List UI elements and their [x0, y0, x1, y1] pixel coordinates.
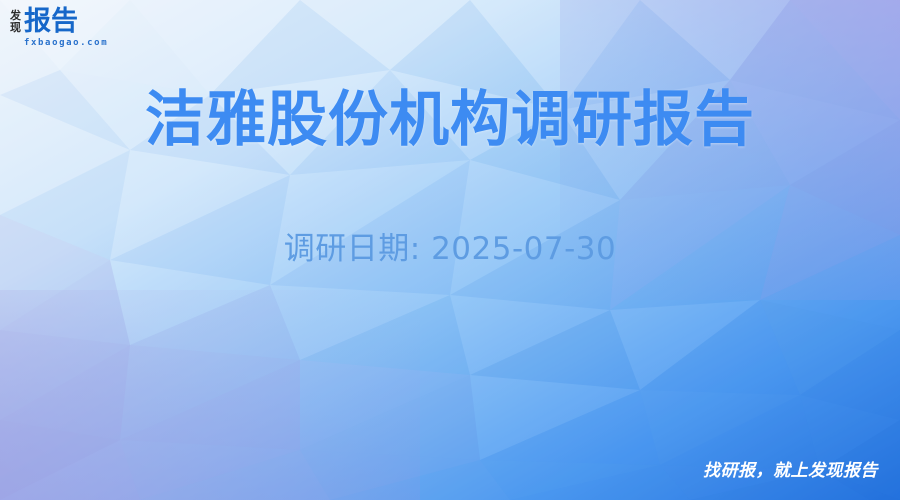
logo-mark: 发 现 [10, 8, 21, 34]
site-logo[interactable]: 发 现 报告 fxbaogao.com [10, 8, 108, 49]
subtitle-block: 调研日期: 2025-07-30 [0, 228, 900, 270]
survey-date: 调研日期: 2025-07-30 [0, 228, 900, 270]
logo-mark-bottom: 现 [10, 22, 21, 34]
report-cover: 发 现 报告 fxbaogao.com 洁雅股份机构调研报告 调研日期: 202… [0, 0, 900, 500]
title-block: 洁雅股份机构调研报告 [0, 82, 900, 158]
brand-tagline: 找研报，就上发现报告 [703, 460, 878, 482]
logo-domain: fxbaogao.com [24, 38, 108, 49]
logo-text-group: 报告 fxbaogao.com [24, 8, 108, 49]
page-title: 洁雅股份机构调研报告 [0, 82, 900, 158]
logo-wordmark: 报告 [24, 8, 108, 36]
